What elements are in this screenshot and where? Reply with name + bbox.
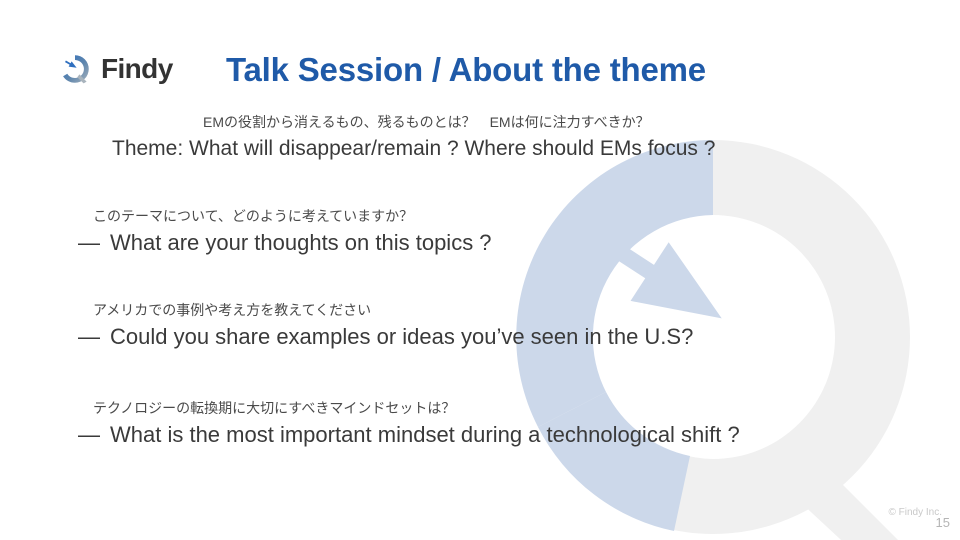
dash-icon: — bbox=[78, 324, 100, 350]
question-en-row: — What is the most important mindset dur… bbox=[78, 422, 740, 448]
question-en-row: — What are your thoughts on this topics … bbox=[78, 230, 492, 256]
question-en: What is the most important mindset durin… bbox=[110, 422, 740, 448]
question-en-row: — Could you share examples or ideas you’… bbox=[78, 324, 693, 350]
slide-canvas: Findy Talk Session / About the theme EMの… bbox=[0, 0, 960, 540]
question-jp: テクノロジーの転換期に大切にすべきマインドセットは？ bbox=[93, 398, 740, 418]
question-block: アメリカでの事例や考え方を教えてください — Could you share e… bbox=[78, 300, 693, 350]
dash-icon: — bbox=[78, 230, 100, 256]
dash-icon: — bbox=[78, 422, 100, 448]
question-en: What are your thoughts on this topics ? bbox=[110, 230, 492, 256]
page-title: Talk Session / About the theme bbox=[226, 51, 706, 89]
copyright-notice: © Findy Inc. bbox=[889, 507, 943, 518]
findy-logo: Findy bbox=[58, 52, 173, 86]
question-en: Could you share examples or ideas you’ve… bbox=[110, 324, 693, 350]
theme-subtitle-jp: EMの役割から消えるもの、残るものとは？ EMは何に注力すべきか？ bbox=[203, 112, 650, 132]
question-block: テクノロジーの転換期に大切にすべきマインドセットは？ — What is the… bbox=[78, 398, 740, 448]
question-jp: このテーマについて、どのように考えていますか？ bbox=[93, 206, 492, 226]
question-block: このテーマについて、どのように考えていますか？ — What are your … bbox=[78, 206, 492, 256]
question-jp: アメリカでの事例や考え方を教えてください bbox=[93, 300, 693, 320]
findy-q-logo-icon bbox=[58, 52, 92, 86]
page-number: 15 bbox=[936, 515, 950, 530]
theme-subtitle-en: Theme: What will disappear/remain ? Wher… bbox=[112, 137, 715, 161]
findy-wordmark: Findy bbox=[101, 55, 173, 83]
